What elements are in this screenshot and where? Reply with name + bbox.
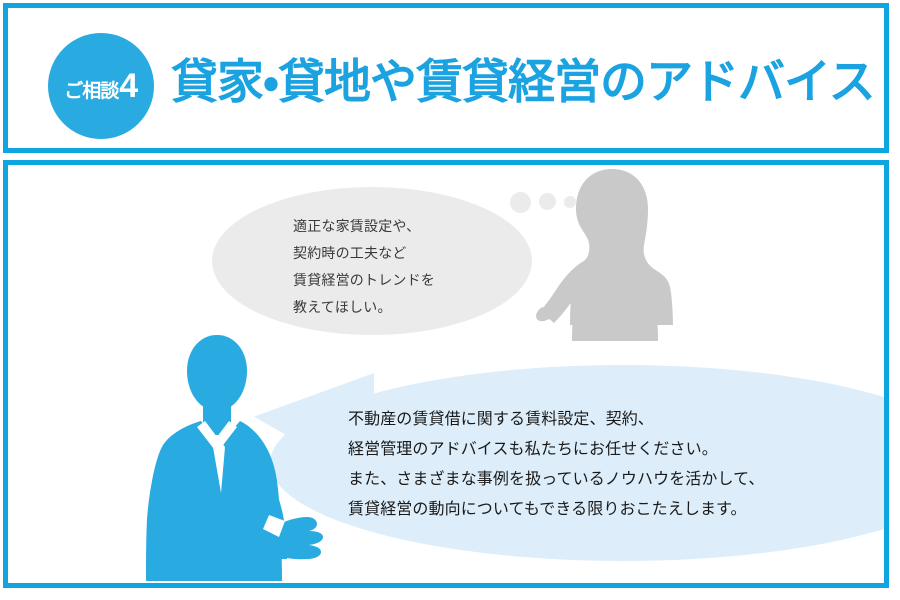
advisor-line-1: 不動産の賃貸借に関する賃料設定、契約、 xyxy=(348,405,818,435)
client-line-2: 契約時の工夫など xyxy=(293,240,523,267)
infographic-canvas: ご相談4 貸家・貸地や賃貸経営のアドバイス 適正な家賃設定や、 契約時の工夫など… xyxy=(0,0,900,600)
woman-silhouette-icon xyxy=(536,165,696,341)
advisor-line-4: 賃貸経営の動向についてもできる限りおこたえします。 xyxy=(348,495,818,525)
consultation-number-badge: ご相談4 xyxy=(48,33,154,139)
advisor-bubble-text: 不動産の賃貸借に関する賃料設定、契約、 経営管理のアドバイスも私たちにお任せくだ… xyxy=(348,405,818,525)
badge-number-text: 4 xyxy=(119,69,137,103)
body-content-layer: 適正な家賃設定や、 契約時の工夫など 賃貸経営のトレンドを 教えてほしい。 xyxy=(8,165,884,583)
badge-prefix-text: ご相談 xyxy=(64,82,118,101)
woman-silhouette-svg xyxy=(536,165,696,341)
header-panel: ご相談4 貸家・貸地や賃貸経営のアドバイス xyxy=(3,3,889,153)
page-title: 貸家・貸地や賃貸経営のアドバイス xyxy=(171,58,875,105)
advisor-line-2: 経営管理のアドバイスも私たちにお任せください。 xyxy=(348,435,818,465)
client-line-1: 適正な家賃設定や、 xyxy=(293,213,523,240)
client-line-4: 教えてほしい。 xyxy=(293,294,523,321)
body-panel: 適正な家賃設定や、 契約時の工夫など 賃貸経営のトレンドを 教えてほしい。 xyxy=(3,160,889,588)
client-bubble-text: 適正な家賃設定や、 契約時の工夫など 賃貸経営のトレンドを 教えてほしい。 xyxy=(293,213,523,321)
badge-label: ご相談4 xyxy=(64,69,137,103)
client-line-3: 賃貸経営のトレンドを xyxy=(293,267,523,294)
businessman-silhouette-icon xyxy=(143,333,343,583)
thought-tail-dot-large xyxy=(510,192,531,213)
businessman-silhouette-svg xyxy=(143,333,343,583)
advisor-line-3: また、さまざまな事例を扱っているノウハウを活かして、 xyxy=(348,465,818,495)
